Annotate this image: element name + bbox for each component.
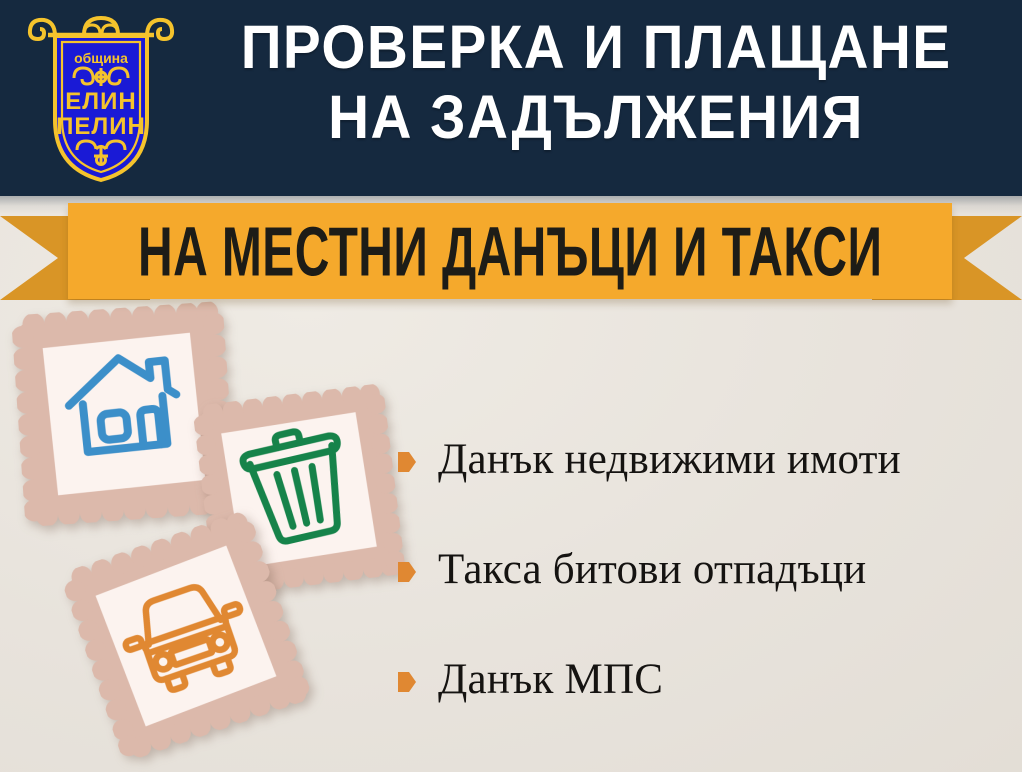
svg-text:ЕЛИН: ЕЛИН [65,88,136,115]
list-item[interactable]: Такса битови отпадъци [398,546,866,594]
list-item-label: Данък недвижими имоти [438,436,901,484]
page-title: ПРОВЕРКА И ПЛАЩАНЕ НА ЗАДЪЛЖЕНИЯ [186,14,1006,184]
list-item-label: Данък МПС [438,656,663,704]
title-line-2: НА ЗАДЪЛЖЕНИЯ [328,84,864,150]
ribbon-label: НА МЕСТНИ ДАНЪЦИ И ТАКСИ [138,211,882,291]
poster-canvas: община ЕЛИН ПЕЛИН ПРО [0,0,1022,772]
list-item[interactable]: Данък недвижими имоти [398,436,901,484]
list-item-label: Такса битови отпадъци [438,546,866,594]
tax-type-list: Данък недвижими имоти Такса битови отпад… [398,418,1018,718]
pennant-bullet-icon [398,450,416,474]
subtitle-ribbon: НА МЕСТНИ ДАНЪЦИ И ТАКСИ [0,196,1022,308]
title-line-1: ПРОВЕРКА И ПЛАЩАНЕ [241,14,952,80]
coat-of-arms-shield-icon: община ЕЛИН ПЕЛИН [22,8,180,188]
pennant-bullet-icon [398,670,416,694]
pennant-bullet-icon [398,560,416,584]
svg-text:ПЕЛИН: ПЕЛИН [56,113,146,140]
list-item[interactable]: Данък МПС [398,656,663,704]
svg-text:община: община [74,50,128,66]
ribbon-label-wrap: НА МЕСТНИ ДАНЪЦИ И ТАКСИ [68,203,952,299]
